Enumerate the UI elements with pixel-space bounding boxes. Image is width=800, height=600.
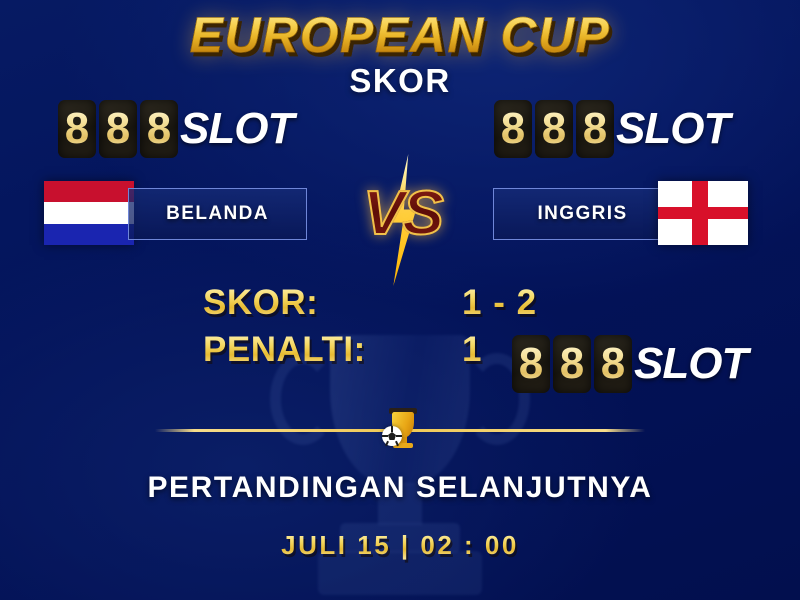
score-label: SKOR: (203, 283, 318, 323)
trophy-ball-icon (378, 408, 424, 454)
brand-digit-box: 8 (140, 100, 178, 158)
brand-digit: 8 (601, 342, 625, 386)
brand-digit-box: 8 (512, 335, 550, 393)
brand-digit: 8 (501, 107, 525, 151)
team-name-home: BELANDA (166, 203, 269, 225)
page-title: EUROPEAN CUP (0, 6, 800, 64)
brand-digit-box: 8 (535, 100, 573, 158)
netherlands-flag-icon (44, 181, 134, 245)
versus-emblem: VS (345, 160, 460, 280)
brand-word: SLOT (180, 104, 293, 154)
brand-digit: 8 (542, 107, 566, 151)
brand-digit: 8 (65, 107, 89, 151)
score-value: 1 - 2 (462, 283, 537, 323)
next-match-time: JULI 15 | 02 : 00 (0, 530, 800, 561)
brand-digit: 8 (147, 107, 171, 151)
soccer-ball-icon (382, 426, 402, 446)
brand-digits: 8 8 8 (512, 335, 632, 393)
brand-digits: 8 8 8 (58, 100, 178, 158)
brand-digit: 8 (583, 107, 607, 151)
penalty-label: PENALTI: (203, 330, 366, 370)
page-subtitle: SKOR (0, 62, 800, 100)
brand-word: SLOT (634, 339, 747, 389)
team-panel-home: BELANDA (128, 188, 307, 240)
brand-digit: 8 (560, 342, 584, 386)
brand-digit-box: 8 (594, 335, 632, 393)
versus-label: VS (345, 178, 460, 249)
brand-digits: 8 8 8 (494, 100, 614, 158)
brand-digit-box: 8 (553, 335, 591, 393)
team-name-away: INGGRIS (537, 203, 627, 225)
brand-digit-box: 8 (99, 100, 137, 158)
brand-digit: 8 (106, 107, 130, 151)
brand-logo-888slot-top-right: 8 8 8 SLOT (494, 100, 729, 158)
penalty-value: 1 (462, 330, 482, 370)
score-card-graphic: EUROPEAN CUP SKOR 8 8 8 SLOT 8 8 8 SLOT … (0, 0, 800, 600)
brand-digit: 8 (519, 342, 543, 386)
next-match-label: PERTANDINGAN SELANJUTNYA (0, 471, 800, 505)
brand-digit-box: 8 (576, 100, 614, 158)
brand-word: SLOT (616, 104, 729, 154)
team-panel-away: INGGRIS (493, 188, 672, 240)
england-flag-icon (658, 181, 748, 245)
brand-digit-box: 8 (58, 100, 96, 158)
brand-logo-888slot-top-left: 8 8 8 SLOT (58, 100, 293, 158)
brand-logo-888slot-bottom-right: 8 8 8 SLOT (512, 335, 747, 393)
brand-digit-box: 8 (494, 100, 532, 158)
